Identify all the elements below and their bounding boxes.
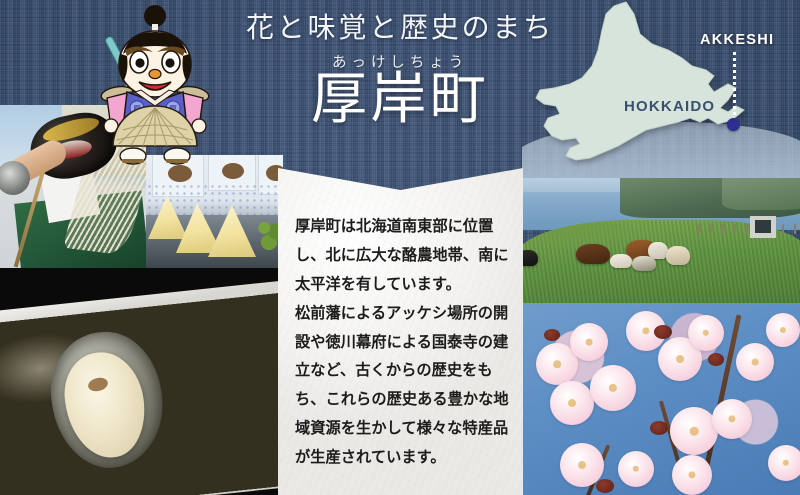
description-paragraph-2: 松前藩によるアッケシ場所の開設や徳川幕府による国泰寺の建立など、古くからの歴史を… xyxy=(295,299,509,472)
description-text: 厚岸町は北海道南東部に位置し、北に広大な酪農地帯、南に太平洋を有しています。 松… xyxy=(295,212,509,472)
header-block: 花と味覚と歴史のまち あっけしちょう 厚岸町 xyxy=(210,6,590,130)
mascot-character-umiemon: 厚 厚 xyxy=(95,2,215,170)
akkeshi-town-banner: AKKESHI HOKKAIDO xyxy=(0,0,800,495)
map-label-hokkaido: HOKKAIDO xyxy=(624,98,715,115)
photo-cheese-wedges xyxy=(146,155,283,268)
description-paragraph-1: 厚岸町は北海道南東部に位置し、北に広大な酪農地帯、南に太平洋を有しています。 xyxy=(295,212,509,299)
map-label-akkeshi: AKKESHI xyxy=(700,32,774,48)
catchphrase: 花と味覚と歴史のまち xyxy=(210,6,590,46)
photo-horses-pasture xyxy=(522,178,800,303)
description-panel: 厚岸町は北海道南東部に位置し、北に広大な酪農地帯、南に太平洋を有しています。 松… xyxy=(278,168,523,495)
map-leader-line xyxy=(733,52,736,118)
map-location-pin xyxy=(727,118,740,131)
photo-cherry-blossoms xyxy=(522,303,800,495)
town-name: 厚岸町 xyxy=(210,70,590,130)
photo-oysters xyxy=(0,268,283,495)
